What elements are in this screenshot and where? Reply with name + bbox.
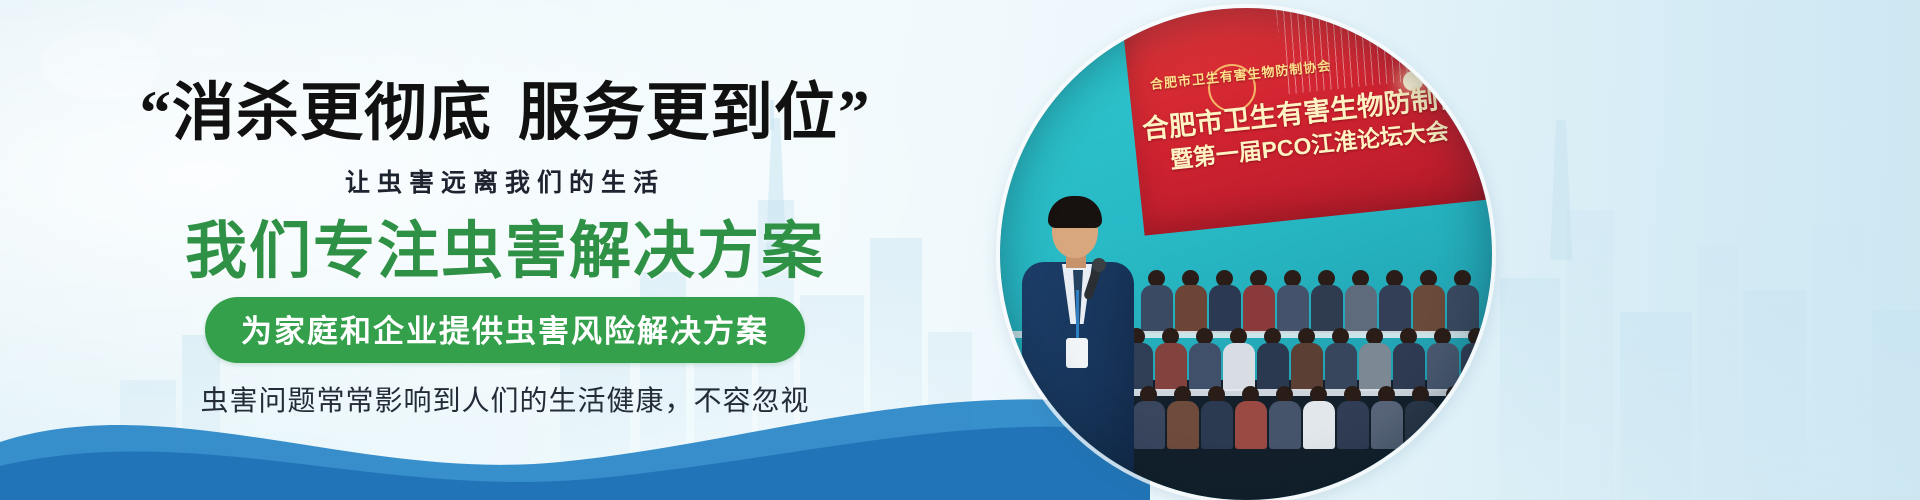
banner-text-column: “消杀更彻底服务更到位” 让虫害远离我们的生活 我们专注虫害解决方案 为家庭和企… [0,0,1010,500]
microphone-head-icon [1092,258,1106,272]
value-proposition-pill: 为家庭和企业提供虫害风险解决方案 [205,297,805,363]
green-headline: 我们专注虫害解决方案 [185,221,825,283]
headline-part-1: 消杀更彻底 [172,78,492,148]
open-quote: “ [140,78,173,148]
headline-part-2: 服务更到位 [518,78,838,148]
tagline: 虫害问题常常影响到人们的生活健康，不容忽视 [200,379,809,419]
speaker-figure [1018,170,1138,500]
speaker-lanyard [1076,290,1079,340]
main-headline: “消杀更彻底服务更到位” [140,82,871,145]
promo-banner: “消杀更彻底服务更到位” 让虫害远离我们的生活 我们专注虫害解决方案 为家庭和企… [0,0,1920,500]
speaker-badge [1066,338,1088,368]
conference-photo: 合肥市卫生有害生物防制协会 合肥市卫生有害生物防制协会2023 暨第一届PCO江… [1000,8,1492,500]
close-quote: ” [838,78,871,148]
sub-headline: 让虫害远离我们的生活 [345,163,665,199]
speaker-hair [1048,196,1102,228]
